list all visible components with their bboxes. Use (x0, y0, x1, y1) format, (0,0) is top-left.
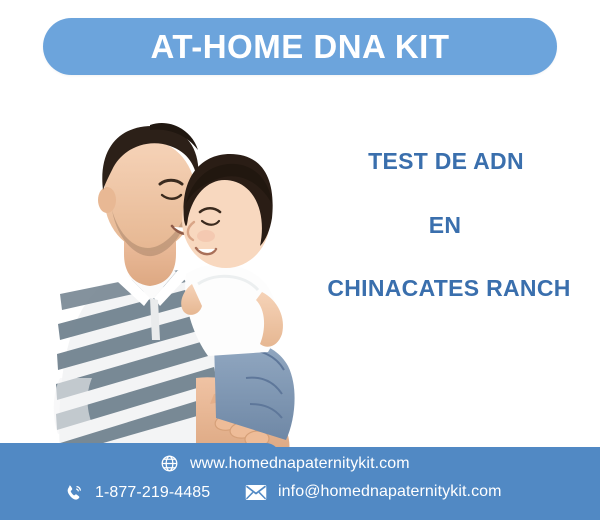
footer-email-label: info@homednapaternitykit.com (278, 483, 502, 501)
phone-icon (64, 483, 84, 503)
footer-website[interactable]: www.homednapaternitykit.com (160, 454, 410, 473)
globe-icon (160, 454, 179, 473)
footer-email[interactable]: info@homednapaternitykit.com (245, 483, 502, 501)
envelope-icon (245, 484, 267, 501)
headline-line-1: TEST DE ADN (302, 150, 590, 173)
page-title: AT-HOME DNA KIT (151, 30, 450, 63)
footer-phone-label: 1-877-219-4485 (95, 484, 210, 502)
poster: AT-HOME DNA KIT (0, 0, 600, 520)
headline-line-2: EN (300, 214, 590, 237)
headline-line-3: CHINACATES RANCH (308, 277, 590, 300)
family-photo (0, 78, 330, 456)
footer-website-label: www.homednapaternitykit.com (190, 455, 410, 473)
footer-contact-info: www.homednapaternitykit.com 1-877-219-44… (0, 443, 600, 520)
header-banner: AT-HOME DNA KIT (43, 18, 557, 75)
headline-block: TEST DE ADN EN CHINACATES RANCH (300, 150, 590, 300)
footer-phone[interactable]: 1-877-219-4485 (64, 483, 210, 503)
